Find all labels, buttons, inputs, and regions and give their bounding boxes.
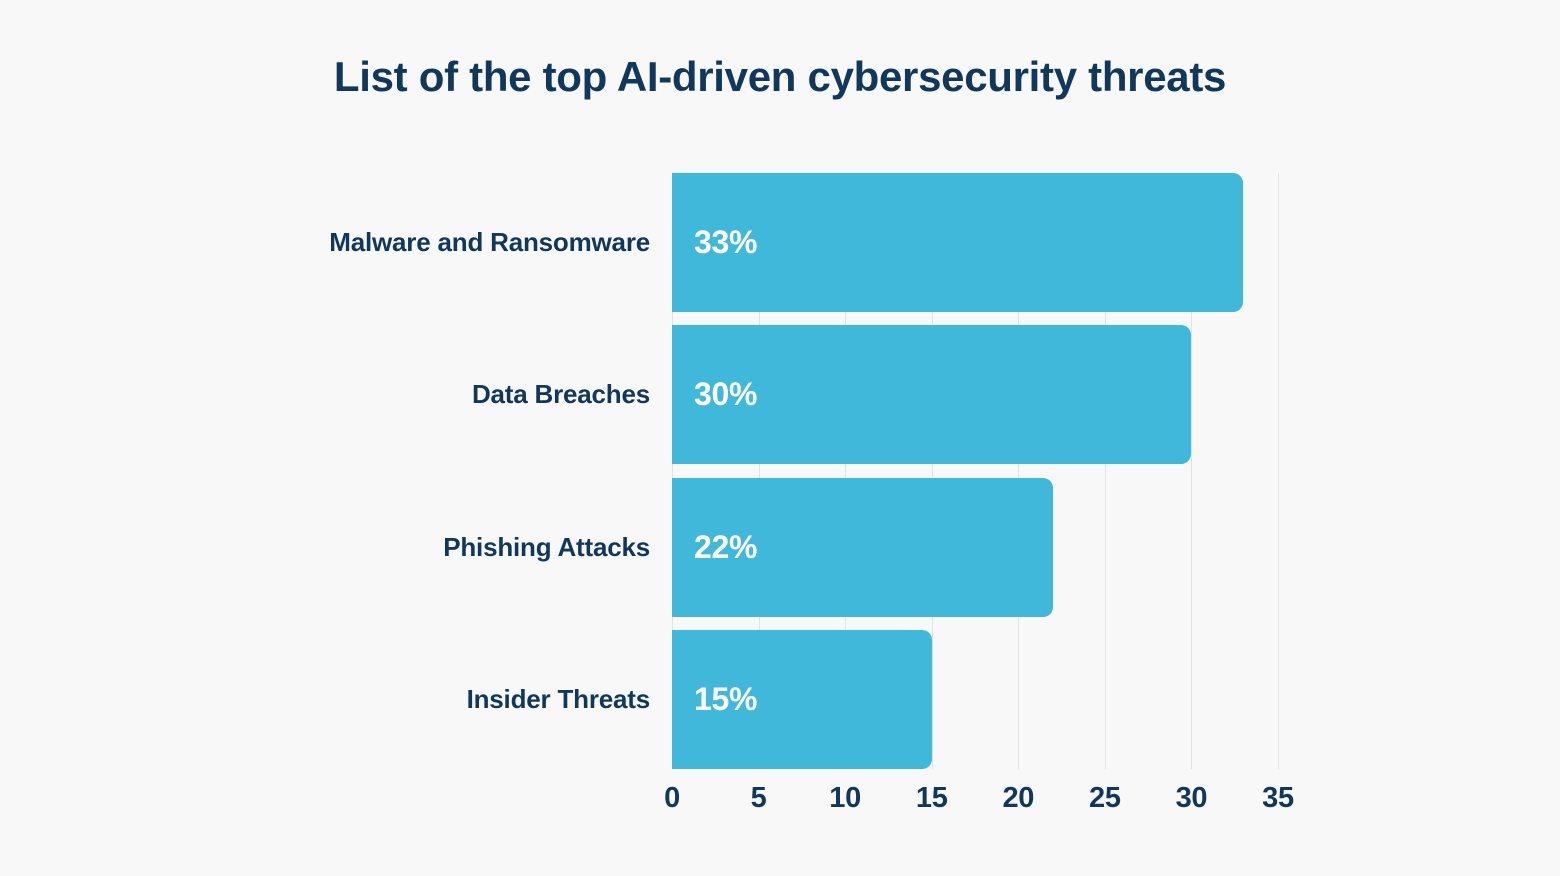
category-label-row: Phishing Attacks [0,478,654,617]
bar-value-label: 30% [694,376,757,413]
bar[interactable]: 30% [672,325,1191,464]
bar-row: 33% [672,173,1278,312]
x-tick-label: 0 [664,782,680,815]
category-label-row: Insider Threats [0,630,654,769]
bar-value-label: 33% [694,224,757,261]
chart-canvas: List of the top AI-driven cybersecurity … [0,0,1560,876]
category-label-row: Data Breaches [0,325,654,464]
category-label: Insider Threats [467,684,650,715]
bar[interactable]: 22% [672,478,1053,617]
bar-series: 33% 30% 22% 15% [672,173,1278,769]
category-label: Phishing Attacks [443,532,650,563]
chart-title: List of the top AI-driven cybersecurity … [0,52,1560,102]
x-tick-label: 35 [1262,782,1294,815]
x-tick-label: 10 [829,782,861,815]
category-label-row: Malware and Ransomware [0,173,654,312]
x-tick-label: 30 [1176,782,1208,815]
category-label: Malware and Ransomware [329,227,650,258]
bar[interactable]: 33% [672,173,1243,312]
x-tick-label: 15 [916,782,948,815]
gridline [1278,173,1279,769]
x-axis-tick-labels: 05101520253035 [672,782,1278,826]
bar-row: 22% [672,478,1278,617]
x-tick-label: 20 [1002,782,1034,815]
x-tick-label: 25 [1089,782,1121,815]
bar[interactable]: 15% [672,630,932,769]
bar-row: 30% [672,325,1278,464]
bar-value-label: 22% [694,529,757,566]
plot-area: 33% 30% 22% 15% [672,173,1278,769]
bar-value-label: 15% [694,681,757,718]
category-axis-labels: Malware and Ransomware Data Breaches Phi… [0,173,654,769]
bar-row: 15% [672,630,1278,769]
category-label: Data Breaches [472,379,650,410]
x-tick-label: 5 [751,782,767,815]
